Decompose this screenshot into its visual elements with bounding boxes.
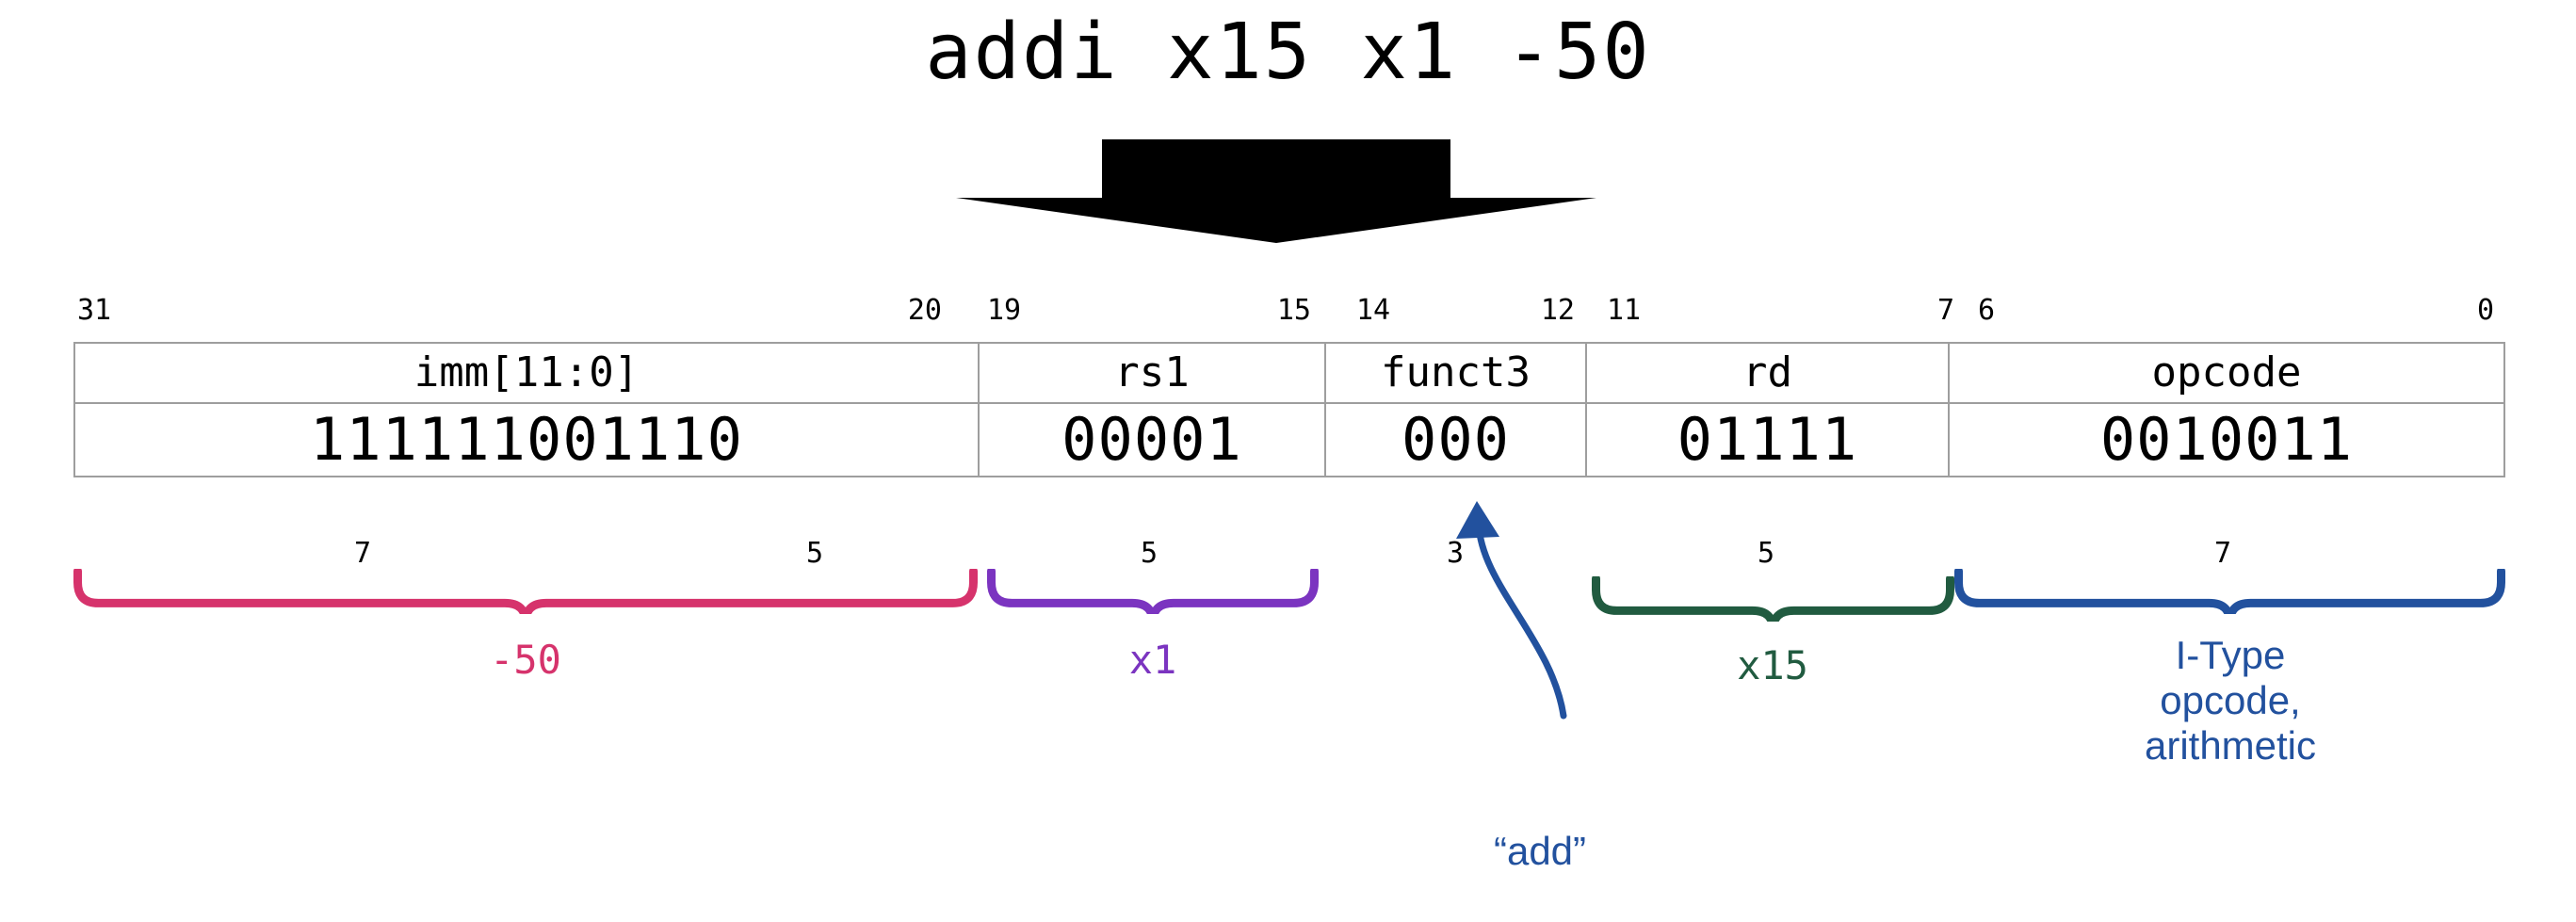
- field-name-cell: opcode: [1949, 343, 2504, 403]
- rs1-annotation-label: x1: [946, 637, 1360, 683]
- imm-annotation-label: -50: [318, 637, 733, 683]
- field-bits-cell: 000: [1325, 403, 1586, 477]
- field-name-cell: rd: [1586, 343, 1949, 403]
- down-arrow-icon: [899, 139, 1653, 243]
- field-bits-cell: 0010011: [1949, 403, 2504, 477]
- bit-index-12: 12: [1518, 294, 1575, 327]
- imm-annotation-brace-icon: [73, 569, 978, 619]
- field-width-label: 5: [777, 537, 852, 570]
- field-width-label: 7: [2185, 537, 2260, 570]
- opcode-annotation-brace-icon: [1954, 569, 2505, 619]
- bit-index-31: 31: [77, 294, 134, 327]
- funct3-callout-label: “add”: [1352, 829, 1728, 874]
- field-name-cell: imm[11:0]: [74, 343, 979, 403]
- bit-index-11: 11: [1607, 294, 1663, 327]
- bit-index-0: 0: [2438, 294, 2494, 327]
- bit-index-19: 19: [987, 294, 1044, 327]
- opcode-annotation-label: I-Type opcode, arithmetic: [2023, 633, 2438, 768]
- funct3-callout-arrow-icon: [1441, 499, 1837, 782]
- bit-index-14: 14: [1356, 294, 1413, 327]
- field-bits-cell: 111111001110: [74, 403, 979, 477]
- field-bits-cell: 01111: [1586, 403, 1949, 477]
- rs1-annotation-brace-icon: [987, 569, 1319, 619]
- diagram-canvas: addi x15 x1 -50 31201915141211760 imm[11…: [0, 0, 2576, 922]
- field-name-cell: funct3: [1325, 343, 1586, 403]
- field-width-label: 5: [1111, 537, 1187, 570]
- bit-index-7: 7: [1898, 294, 1954, 327]
- instruction-title: addi x15 x1 -50: [0, 8, 2576, 97]
- instruction-encoding-table: imm[11:0]rs1funct3rdopcode 1111110011100…: [73, 342, 2505, 477]
- field-name-cell: rs1: [979, 343, 1325, 403]
- field-bits-cell: 00001: [979, 403, 1325, 477]
- bit-index-15: 15: [1255, 294, 1311, 327]
- field-width-label: 7: [325, 537, 400, 570]
- bit-index-20: 20: [885, 294, 942, 327]
- bit-index-6: 6: [1978, 294, 2034, 327]
- field-bits-row: 11111100111000001000011110010011: [74, 403, 2504, 477]
- field-name-row: imm[11:0]rs1funct3rdopcode: [74, 343, 2504, 403]
